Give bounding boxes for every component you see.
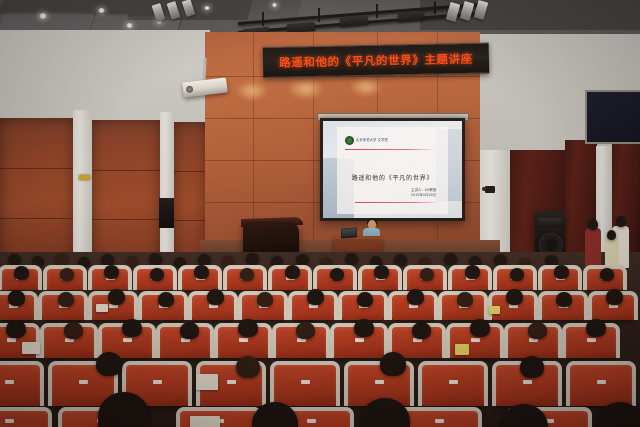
audience-seating-area (0, 252, 640, 427)
person-head (380, 352, 406, 376)
person-head (407, 289, 424, 305)
slide-title: 路遥和他的《平凡的世界》 (337, 173, 448, 182)
university-emblem-icon (345, 136, 354, 145)
seat-number-plate (435, 419, 444, 423)
person-head (606, 289, 623, 305)
handout-paper (455, 344, 469, 355)
person-head (457, 292, 473, 307)
person-head (58, 292, 74, 307)
person-head (236, 356, 260, 378)
person-head (345, 253, 358, 265)
person-head (108, 289, 125, 305)
person-head (240, 268, 254, 281)
seat-number-plate (153, 380, 162, 384)
auditorium-seat (422, 364, 484, 406)
person-head (64, 322, 83, 339)
speaker-horn (539, 218, 561, 227)
slide-meta-date: 2015年5月28日 (411, 193, 436, 198)
person-head (588, 219, 598, 230)
auditorium-seat (274, 364, 336, 406)
person-head (506, 289, 523, 305)
person-head (285, 265, 300, 279)
seat-number-plate (123, 338, 132, 342)
wall-camera (485, 186, 495, 193)
seat-number-plate (355, 338, 364, 342)
seat-number-plate (227, 380, 236, 384)
person-head (556, 292, 572, 307)
ceiling-downlight (39, 13, 47, 19)
person-head (470, 319, 490, 337)
handout-paper (190, 416, 220, 427)
person-head (296, 322, 315, 339)
person-head (444, 253, 457, 265)
lecture-hall-photo: 路遥和他的《平凡的世界》主题讲座 北京师范大学 文学院 路遥和他的《平凡的世界》… (0, 0, 640, 427)
seat-number-plate (587, 338, 596, 342)
stage-light (398, 11, 425, 22)
person-head (149, 253, 162, 265)
person-head (6, 320, 26, 338)
wall-plaque (79, 175, 90, 180)
event-banner: 路遥和他的《平凡的世界》主题讲座 (263, 42, 490, 78)
presenter-laptop (341, 227, 357, 238)
person-head (586, 319, 606, 337)
auditorium-seat (400, 410, 478, 427)
wall-speaker-small (159, 198, 174, 228)
wood-wall-panel-left (0, 118, 73, 270)
person-head (554, 265, 569, 279)
person-head (122, 319, 142, 337)
person-head (55, 253, 68, 265)
person-head (14, 266, 29, 280)
ceiling-downlight (204, 6, 210, 10)
projector-lens (186, 85, 194, 93)
wall-display-panel (585, 90, 640, 144)
person-head (158, 292, 174, 307)
person-head (465, 265, 480, 279)
seat-number-plate (79, 380, 88, 384)
slide-divider-bottom (355, 202, 440, 203)
seat-number-plate (307, 419, 316, 423)
person-head (96, 352, 122, 376)
projection-screen: 北京师范大学 文学院 路遥和他的《平凡的世界》 主讲人：XX教授 2015年5月… (323, 121, 462, 218)
person-head (257, 292, 273, 307)
lectern-top (331, 236, 385, 239)
person-head (607, 230, 616, 240)
laptop-screen (342, 229, 356, 237)
ceiling-downlight (126, 23, 133, 28)
person-head (180, 322, 199, 339)
seat-number-plate (523, 380, 532, 384)
standing-person (585, 228, 601, 266)
seat-number-plate (7, 338, 16, 342)
person-head (616, 216, 626, 227)
seat-number-plate (5, 419, 14, 423)
person-head (412, 322, 431, 339)
seat-number-plate (471, 338, 480, 342)
wall-pillar (73, 110, 92, 272)
slide-logo-text: 北京师范大学 文学院 (356, 139, 388, 142)
person-head (354, 319, 374, 337)
handout-paper (196, 374, 218, 390)
person-head (104, 265, 119, 279)
auditorium-seat (0, 364, 40, 406)
person-head (330, 268, 344, 281)
wall-pillar (160, 112, 174, 272)
seat-number-plate (239, 338, 248, 342)
slide-content: 北京师范大学 文学院 路遥和他的《平凡的世界》 主讲人：XX教授 2015年5月… (337, 127, 448, 214)
person-head (150, 268, 164, 281)
person-head (194, 265, 209, 279)
seat-number-plate (375, 380, 384, 384)
handout-paper (96, 304, 108, 312)
handout-paper (22, 342, 40, 354)
seat-number-plate (597, 380, 606, 384)
person-head (510, 268, 524, 281)
seat-number-plate (5, 380, 14, 384)
person-head (374, 265, 389, 279)
auditorium-seat (570, 364, 632, 406)
person-head (528, 322, 547, 339)
slide-divider-top (345, 149, 436, 150)
slide-meta: 主讲人：XX教授 2015年5月28日 (411, 188, 436, 198)
ceiling-downlight (98, 8, 105, 13)
person-head (600, 268, 614, 281)
seat-number-plate (449, 380, 458, 384)
person-head (520, 356, 544, 378)
person-head (420, 268, 434, 281)
person-head (60, 268, 74, 281)
person-head (307, 289, 324, 305)
seat-number-plate (301, 380, 310, 384)
ceiling-downlight (272, 3, 277, 7)
person-head (238, 319, 258, 337)
person-head (357, 292, 373, 307)
person-head (207, 289, 224, 305)
auditorium-seat (0, 410, 48, 427)
wood-wall-panel-mid (92, 120, 160, 270)
person-head (246, 253, 259, 265)
person-head (394, 254, 407, 266)
person-head (8, 290, 25, 306)
slide-university-logo: 北京师范大学 文学院 (345, 136, 388, 145)
banner-text: 路遥和他的《平凡的世界》主题讲座 (279, 50, 473, 70)
handout-paper (489, 306, 500, 314)
